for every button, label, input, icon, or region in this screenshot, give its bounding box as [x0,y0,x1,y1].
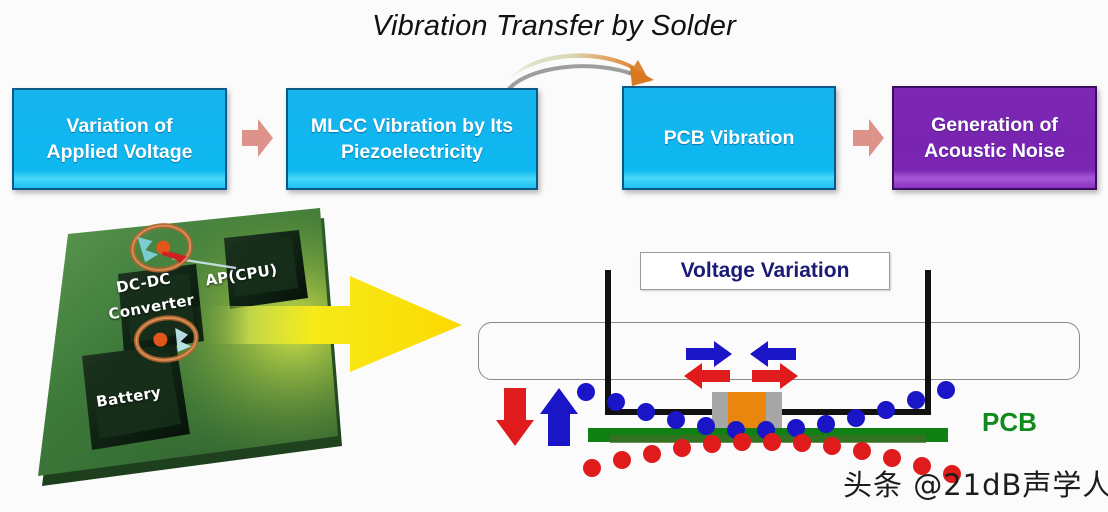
flow-box-3-line1: PCB Vibration [664,127,795,149]
red-vibration-arrows-icon [684,363,798,389]
flow-box-pcb-vibration[interactable]: PCB Vibration [622,86,836,190]
flow-box-variation-of-applied-voltage[interactable]: Variation of Applied Voltage [12,88,227,190]
flow-box-mlcc-vibration[interactable]: MLCC Vibration by Its Piezoelectricity [286,88,538,190]
voltage-variation-label: Voltage Variation [640,252,890,290]
page-title: Vibration Transfer by Solder [0,10,1108,43]
flow-box-4-line1: Generation of [931,114,1058,136]
curved-transfer-arrow-icon [498,44,678,92]
watermark-text: 头条 @21dB声学人 [843,462,1108,504]
flow-box-generation-of-acoustic-noise[interactable]: Generation of Acoustic Noise [892,86,1097,190]
blue-vibration-arrows-icon [686,341,796,367]
yellow-beam-arrow-icon [190,268,465,388]
flow-box-1-line2: Applied Voltage [47,141,193,163]
voltage-variation-text: Voltage Variation [681,259,850,283]
flow-box-1-line1: Variation of [66,115,172,137]
flow-arrow-1-icon [240,114,274,162]
pcb-bar-label: PCB [982,407,1037,438]
flow-box-2-line2: Piezoelectricity [341,141,483,163]
flow-box-2-line1: MLCC Vibration by Its [311,115,513,137]
flow-arrow-2-icon [851,114,885,162]
diagram-canvas: Vibration Transfer by Solder Variation o… [0,0,1108,512]
vertical-vibration-arrows-icon [496,388,586,450]
flow-box-4-line2: Acoustic Noise [924,140,1065,162]
